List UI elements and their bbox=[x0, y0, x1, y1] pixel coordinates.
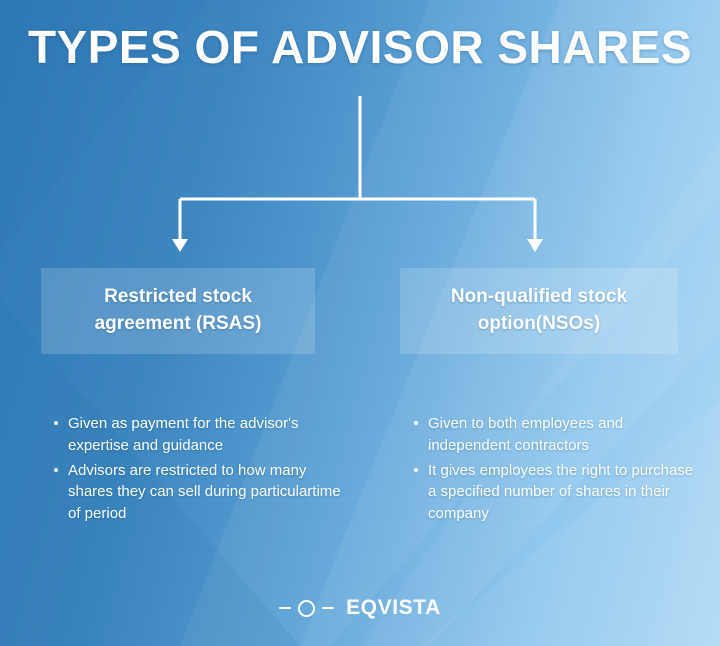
brand-name: EQVISTA bbox=[346, 596, 441, 620]
branch-bullets-rsas: Given as payment for the advisor's exper… bbox=[48, 413, 348, 528]
branch-heading-rsas-line1: Restricted stock bbox=[104, 286, 252, 307]
list-item: Advisors are restricted to how many shar… bbox=[68, 460, 348, 525]
branch-heading-nsos: Non-qualified stock option(NSOs) bbox=[400, 268, 678, 354]
logo-dash-right-icon bbox=[322, 607, 334, 609]
branch-bullets-nsos: Given to both employees and independent … bbox=[408, 413, 698, 528]
logo-dash-left-icon bbox=[279, 607, 291, 609]
branch-heading-rsas: Restricted stock agreement (RSAS) bbox=[41, 268, 315, 354]
footer-logo: EQVISTA bbox=[0, 596, 720, 620]
branch-heading-nsos-line2: option(NSOs) bbox=[478, 313, 600, 334]
branch-heading-nsos-text: Non-qualified stock option(NSOs) bbox=[437, 284, 641, 338]
page-title: TYPES OF ADVISOR SHARES bbox=[0, 20, 720, 74]
arrow-head-left-icon bbox=[172, 239, 188, 252]
arrow-head-right-icon bbox=[527, 239, 543, 252]
branch-heading-nsos-line1: Non-qualified stock bbox=[451, 286, 627, 307]
list-item: Given as payment for the advisor's exper… bbox=[68, 413, 348, 457]
branch-heading-rsas-line2: agreement (RSAS) bbox=[95, 313, 262, 334]
list-item: It gives employees the right to purchase… bbox=[428, 460, 698, 525]
logo-ring-icon bbox=[298, 600, 315, 617]
list-item: Given to both employees and independent … bbox=[428, 413, 698, 457]
bullet-list-nsos: Given to both employees and independent … bbox=[408, 413, 698, 525]
infographic-poster: TYPES OF ADVISOR SHARES Restricted stock… bbox=[0, 0, 720, 646]
branch-heading-rsas-text: Restricted stock agreement (RSAS) bbox=[81, 284, 276, 338]
bullet-list-rsas: Given as payment for the advisor's exper… bbox=[48, 413, 348, 525]
